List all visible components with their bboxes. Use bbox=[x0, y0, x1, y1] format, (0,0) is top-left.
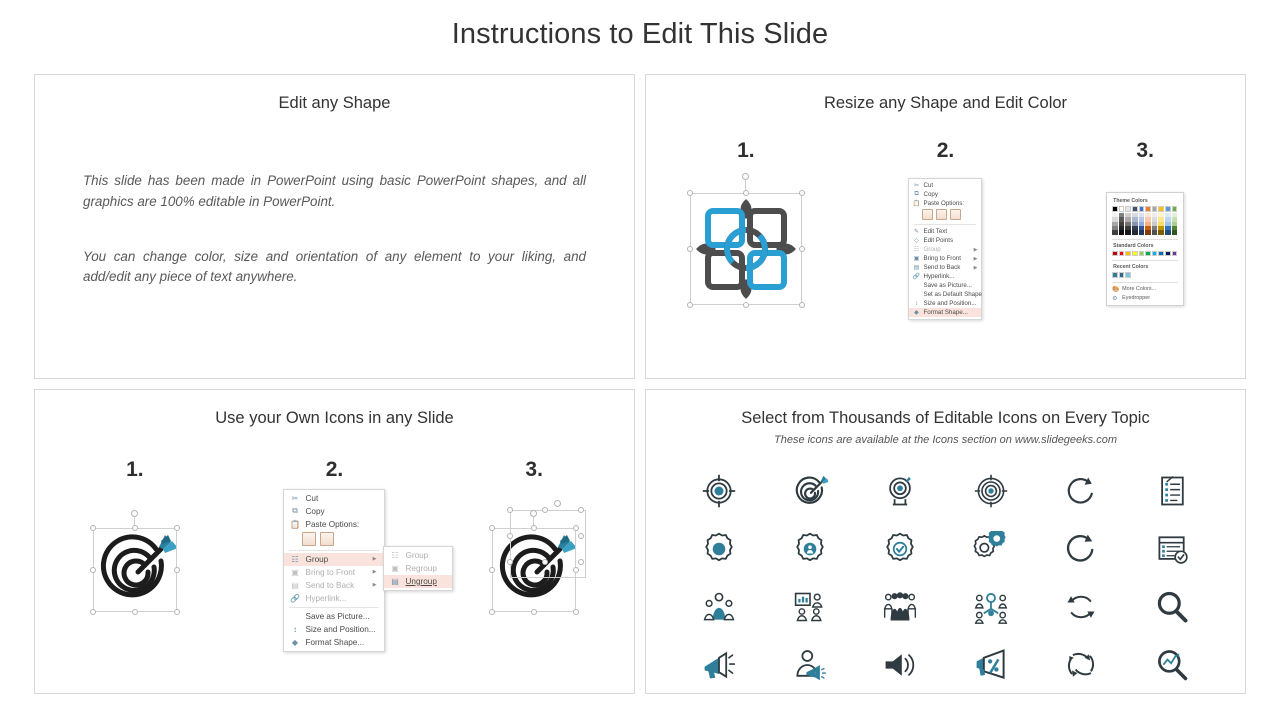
gctx-item-copy-label: Copy bbox=[300, 507, 324, 516]
icon-cell[interactable] bbox=[855, 520, 946, 578]
own-icons-step-1-art bbox=[35, 490, 235, 650]
swatch-theme[interactable] bbox=[1125, 206, 1131, 212]
swatch-recent[interactable] bbox=[1119, 272, 1125, 278]
slide-root: Instructions to Edit This Slide Edit any… bbox=[0, 0, 1280, 720]
ctx-item-bring-to-front[interactable]: ▣ Bring to Front ▶ bbox=[909, 254, 981, 263]
gctx-item-format-shape-label: Format Shape... bbox=[300, 638, 364, 647]
swatch-theme[interactable] bbox=[1152, 206, 1158, 212]
gctx-item-cut[interactable]: ✂ Cut bbox=[284, 492, 384, 505]
gctx-item-format-shape[interactable]: ◆ Format Shape... bbox=[284, 636, 384, 649]
checklist-document-icon bbox=[1154, 473, 1190, 509]
swatch-standard[interactable] bbox=[1132, 251, 1138, 257]
swatch-standard[interactable] bbox=[1119, 251, 1125, 257]
ctx-item-size-and-position-label: Size and Position... bbox=[920, 300, 976, 307]
size-position-icon: ↕ bbox=[912, 301, 920, 307]
paste-option-buttons bbox=[909, 208, 981, 222]
edit-text-icon: ✎ bbox=[912, 228, 920, 235]
swatch-theme[interactable] bbox=[1112, 206, 1118, 212]
ctx-item-edit-points-label: Edit Points bbox=[920, 237, 953, 244]
gctx-separator-1 bbox=[289, 550, 379, 551]
icon-cell[interactable] bbox=[765, 462, 856, 520]
scissors-icon: ✂ bbox=[912, 182, 920, 189]
ctx-item-bring-to-front-label: Bring to Front bbox=[920, 255, 961, 262]
resize-step-art-row: ✂ Cut ⧉ Copy 📋 Paste Options: bbox=[646, 169, 1245, 329]
ctx-item-set-default-shape[interactable]: Set as Default Shape bbox=[909, 290, 981, 299]
icon-cell[interactable] bbox=[855, 636, 946, 694]
handle-bottom-center[interactable] bbox=[743, 302, 749, 308]
bring-front-icon: ▣ bbox=[912, 255, 920, 262]
eyedropper-label: Eyedropper bbox=[1122, 295, 1150, 301]
size-position-icon: ↕ bbox=[289, 625, 300, 634]
gctx-item-copy[interactable]: ⧉ Copy bbox=[284, 505, 384, 518]
clipboard-icon: 📋 bbox=[289, 520, 300, 529]
gctx-item-hyperlink[interactable]: 🔗 Hyperlink... bbox=[284, 592, 384, 605]
swatch-theme[interactable] bbox=[1132, 206, 1138, 212]
icon-cell[interactable] bbox=[946, 578, 1037, 636]
paste-keep-formatting-icon[interactable] bbox=[302, 532, 316, 546]
ctx-item-send-to-back-label: Send to Back bbox=[920, 264, 960, 271]
gctx-item-size-and-position-label: Size and Position... bbox=[300, 625, 375, 634]
submenu-item-ungroup[interactable]: ▤ Ungroup bbox=[384, 575, 452, 588]
palette-icon: 🎨 bbox=[1112, 286, 1119, 293]
more-colors-label: More Colors... bbox=[1122, 286, 1156, 292]
theme-colors-row bbox=[1112, 206, 1178, 212]
chevron-right-icon: ▶ bbox=[974, 247, 978, 253]
more-colors-item[interactable]: 🎨 More Colors... bbox=[1112, 286, 1178, 293]
gctx-item-hyperlink-label: Hyperlink... bbox=[300, 594, 346, 603]
icon-cell[interactable] bbox=[946, 520, 1037, 578]
panel-icon-library-subtitle: These icons are available at the Icons s… bbox=[646, 434, 1245, 446]
icon-cell[interactable] bbox=[765, 520, 856, 578]
own-icons-step-2-art: ✂ Cut ⧉ Copy 📋 Paste Options: bbox=[235, 490, 435, 650]
icon-cell[interactable] bbox=[674, 462, 765, 520]
handle-top-left[interactable] bbox=[687, 190, 693, 196]
ctx-item-format-shape[interactable]: ◆ Format Shape... bbox=[909, 308, 981, 317]
selection-bounding-box bbox=[93, 528, 177, 612]
ctx-item-hyperlink-label: Hyperlink... bbox=[920, 273, 954, 280]
ungrouped-target-selection-frame[interactable] bbox=[492, 528, 576, 612]
icon-cell[interactable] bbox=[1127, 462, 1218, 520]
recent-colors-row bbox=[1112, 272, 1178, 278]
ctx-item-paste-options[interactable]: 📋 Paste Options: bbox=[909, 199, 981, 208]
chevron-right-icon: ▶ bbox=[373, 556, 377, 562]
person-megaphone-icon bbox=[792, 647, 828, 683]
panel-resize-shape-title: Resize any Shape and Edit Color bbox=[646, 94, 1245, 113]
icon-cell[interactable] bbox=[1036, 578, 1127, 636]
own-icons-step-3-number: 3. bbox=[434, 458, 634, 482]
ctx-item-copy[interactable]: ⧉ Copy bbox=[909, 190, 981, 199]
group-icon: ☷ bbox=[912, 246, 920, 253]
paste-picture-icon[interactable] bbox=[320, 532, 334, 546]
ctx-item-group[interactable]: ☷ Group ▶ bbox=[909, 245, 981, 254]
resize-step-numbers: 1. 2. 3. bbox=[646, 139, 1245, 163]
target-dart-icon bbox=[792, 473, 828, 509]
ctx-item-edit-points[interactable]: ◇ Edit Points bbox=[909, 236, 981, 245]
gctx-item-group[interactable]: ☷ Group ▶ bbox=[284, 553, 384, 566]
own-icons-step-numbers: 1. 2. 3. bbox=[35, 458, 634, 482]
theme-colors-label: Theme Colors bbox=[1113, 198, 1178, 204]
submenu-item-group[interactable]: ☷ Group bbox=[384, 549, 452, 562]
paste-option-buttons bbox=[284, 531, 384, 548]
edit-points-icon: ◇ bbox=[912, 237, 920, 244]
gctx-item-bring-to-front-label: Bring to Front bbox=[300, 568, 355, 577]
color-picker-menu[interactable]: Theme Colors bbox=[1106, 192, 1184, 306]
gctx-item-save-as-picture[interactable]: Save as Picture... bbox=[284, 610, 384, 623]
gctx-item-save-as-picture-label: Save as Picture... bbox=[300, 612, 369, 621]
edit-shape-paragraph-1: This slide has been made in PowerPoint u… bbox=[83, 171, 586, 213]
group-icon: ☷ bbox=[389, 551, 400, 560]
group-context-menu[interactable]: ✂ Cut ⧉ Copy 📋 Paste Options: bbox=[283, 489, 385, 652]
panel-icon-library: Select from Thousands of Editable Icons … bbox=[645, 389, 1246, 694]
panel-edit-shape: Edit any Shape This slide has been made … bbox=[34, 74, 635, 379]
swatch-theme[interactable] bbox=[1158, 206, 1164, 212]
eyedropper-item[interactable]: ⚙ Eyedropper bbox=[1112, 295, 1178, 302]
icon-library-grid bbox=[674, 462, 1217, 694]
handle-middle-left[interactable] bbox=[90, 567, 96, 573]
rotate-clockwise-icon bbox=[1063, 473, 1099, 509]
swatch-theme[interactable] bbox=[1145, 206, 1151, 212]
tint-column[interactable] bbox=[1152, 213, 1158, 235]
tint-column[interactable] bbox=[1165, 213, 1171, 235]
swatch-standard[interactable] bbox=[1139, 251, 1145, 257]
panel-own-icons: Use your Own Icons in any Slide 1. 2. 3. bbox=[34, 389, 635, 694]
gear-check-icon bbox=[882, 531, 918, 567]
swatch-standard[interactable] bbox=[1152, 251, 1158, 257]
panel-grid: Edit any Shape This slide has been made … bbox=[34, 74, 1246, 694]
picker-separator-1 bbox=[1112, 239, 1178, 240]
regroup-icon: ▣ bbox=[389, 564, 400, 573]
tint-column[interactable] bbox=[1139, 213, 1145, 235]
icon-cell[interactable] bbox=[674, 520, 765, 578]
resize-step-2-art: ✂ Cut ⧉ Copy 📋 Paste Options: bbox=[846, 169, 1046, 329]
icon-cell[interactable] bbox=[855, 462, 946, 520]
ctx-item-hyperlink[interactable]: 🔗 Hyperlink... bbox=[909, 272, 981, 281]
swatch-standard[interactable] bbox=[1125, 251, 1131, 257]
resize-step-3-number: 3. bbox=[1045, 139, 1245, 163]
ctx-item-size-and-position[interactable]: ↕ Size and Position... bbox=[909, 299, 981, 308]
ctx-item-save-as-picture[interactable]: Save as Picture... bbox=[909, 281, 981, 290]
icon-cell[interactable] bbox=[765, 578, 856, 636]
icon-cell[interactable] bbox=[946, 462, 1037, 520]
ctx-item-edit-text-label: Edit Text bbox=[920, 228, 947, 235]
handle-bottom-left[interactable] bbox=[90, 609, 96, 615]
icon-cell[interactable] bbox=[1127, 578, 1218, 636]
ctx-item-paste-options-label: Paste Options: bbox=[920, 200, 964, 207]
ctx-separator-1 bbox=[914, 224, 976, 225]
handle-bottom-right[interactable] bbox=[799, 302, 805, 308]
ctx-item-cut[interactable]: ✂ Cut bbox=[909, 181, 981, 190]
icon-cell[interactable] bbox=[1036, 636, 1127, 694]
target-stand-icon bbox=[882, 473, 918, 509]
gctx-item-send-to-back-label: Send to Back bbox=[300, 581, 354, 590]
rotate-handle[interactable] bbox=[131, 510, 138, 517]
tint-column[interactable] bbox=[1132, 213, 1138, 235]
circular-arrows-icon bbox=[1063, 647, 1099, 683]
eyedropper-icon: ⚙ bbox=[1112, 295, 1119, 302]
swatch-theme[interactable] bbox=[1119, 206, 1125, 212]
gctx-item-cut-label: Cut bbox=[300, 494, 318, 503]
gctx-item-paste-options[interactable]: 📋 Paste Options: bbox=[284, 518, 384, 531]
paste-keep-text-icon[interactable] bbox=[950, 209, 961, 220]
swatch-standard[interactable] bbox=[1112, 251, 1118, 257]
icon-cell[interactable] bbox=[674, 578, 765, 636]
ctx-item-group-label: Group bbox=[920, 246, 940, 253]
megaphone-icon bbox=[701, 647, 737, 683]
standard-colors-row bbox=[1112, 251, 1178, 257]
handle-bottom-right[interactable] bbox=[174, 609, 180, 615]
group-people-icon bbox=[882, 589, 918, 625]
chevron-right-icon: ▶ bbox=[974, 265, 978, 271]
ctx-item-cut-label: Cut bbox=[920, 182, 933, 189]
handle-middle-right[interactable] bbox=[174, 567, 180, 573]
bring-front-icon: ▣ bbox=[289, 568, 300, 577]
paste-picture-icon[interactable] bbox=[936, 209, 947, 220]
icon-cell[interactable] bbox=[855, 578, 946, 636]
copy-icon: ⧉ bbox=[289, 506, 300, 516]
gctx-item-size-and-position[interactable]: ↕ Size and Position... bbox=[284, 623, 384, 636]
rotate-handle-part[interactable] bbox=[554, 500, 561, 507]
panel-edit-shape-title: Edit any Shape bbox=[35, 94, 634, 113]
resize-step-1-art bbox=[646, 169, 846, 329]
icon-cell[interactable] bbox=[1127, 636, 1218, 694]
ctx-item-save-as-picture-label: Save as Picture... bbox=[920, 282, 972, 289]
format-shape-icon: ◆ bbox=[289, 638, 300, 647]
handle-top-left[interactable] bbox=[90, 525, 96, 531]
refresh-circle-icon bbox=[1063, 531, 1099, 567]
chevron-right-icon: ▶ bbox=[373, 582, 377, 588]
gctx-item-group-label: Group bbox=[300, 555, 328, 564]
handle-top-center[interactable] bbox=[743, 190, 749, 196]
send-back-icon: ▤ bbox=[912, 264, 920, 271]
chevron-right-icon: ▶ bbox=[974, 256, 978, 262]
swatch-theme[interactable] bbox=[1139, 206, 1145, 212]
gctx-item-send-to-back[interactable]: ▤ Send to Back ▶ bbox=[284, 579, 384, 592]
tint-column[interactable] bbox=[1112, 213, 1118, 235]
crosshair-target-icon bbox=[701, 473, 737, 509]
swatch-recent[interactable] bbox=[1125, 272, 1131, 278]
handle-top-right[interactable] bbox=[174, 525, 180, 531]
icon-cell[interactable] bbox=[1036, 462, 1127, 520]
format-shape-icon: ◆ bbox=[912, 309, 920, 316]
link-icon: 🔗 bbox=[912, 273, 920, 280]
handle-top-center[interactable] bbox=[132, 525, 138, 531]
gctx-separator-2 bbox=[289, 607, 379, 608]
handle-middle-left[interactable] bbox=[687, 246, 693, 252]
copy-icon: ⧉ bbox=[912, 191, 920, 198]
own-icons-step-3-art bbox=[434, 490, 634, 650]
sync-arrows-icon bbox=[1063, 589, 1099, 625]
edit-shape-paragraph-2: You can change color, size and orientati… bbox=[83, 247, 586, 289]
gears-pair-icon bbox=[973, 531, 1009, 567]
standard-colors-label: Standard Colors bbox=[1113, 243, 1178, 249]
swatch-recent[interactable] bbox=[1112, 272, 1118, 278]
handle-bottom-center[interactable] bbox=[132, 609, 138, 615]
link-icon: 🔗 bbox=[289, 594, 300, 603]
picker-separator-3 bbox=[1112, 282, 1178, 283]
ctx-item-edit-text[interactable]: ✎ Edit Text bbox=[909, 227, 981, 236]
group-icon: ☷ bbox=[289, 555, 300, 564]
handle-top-right[interactable] bbox=[799, 190, 805, 196]
panel-resize-shape: Resize any Shape and Edit Color 1. 2. 3. bbox=[645, 74, 1246, 379]
tint-column[interactable] bbox=[1145, 213, 1151, 235]
target-selection-frame[interactable] bbox=[93, 528, 177, 612]
document-approved-icon bbox=[1154, 531, 1190, 567]
tint-column[interactable] bbox=[1125, 213, 1131, 235]
ctx-item-send-to-back[interactable]: ▤ Send to Back ▶ bbox=[909, 263, 981, 272]
shape-context-menu[interactable]: ✂ Cut ⧉ Copy 📋 Paste Options: bbox=[908, 178, 982, 320]
team-leader-icon bbox=[701, 589, 737, 625]
resize-step-1-number: 1. bbox=[646, 139, 846, 163]
swatch-standard[interactable] bbox=[1145, 251, 1151, 257]
rotate-handle[interactable] bbox=[742, 173, 749, 180]
icon-cell[interactable] bbox=[946, 636, 1037, 694]
panel-own-icons-title: Use your Own Icons in any Slide bbox=[35, 409, 634, 428]
swatch-standard[interactable] bbox=[1172, 251, 1178, 257]
recent-colors-label: Recent Colors bbox=[1113, 264, 1178, 270]
icon-cell[interactable] bbox=[765, 636, 856, 694]
picker-separator-2 bbox=[1112, 260, 1178, 261]
chevron-right-icon: ▶ bbox=[373, 569, 377, 575]
page-title: Instructions to Edit This Slide bbox=[0, 0, 1280, 51]
handle-middle-right[interactable] bbox=[799, 246, 805, 252]
panel-icon-library-title: Select from Thousands of Editable Icons … bbox=[646, 409, 1245, 428]
tint-column[interactable] bbox=[1172, 213, 1178, 235]
clipboard-icon: 📋 bbox=[912, 200, 920, 207]
handle-bottom-left[interactable] bbox=[687, 302, 693, 308]
swatch-standard[interactable] bbox=[1158, 251, 1164, 257]
own-icons-step-2-number: 2. bbox=[235, 458, 435, 482]
speaker-sound-icon bbox=[882, 647, 918, 683]
ctx-item-set-default-shape-label: Set as Default Shape bbox=[920, 291, 981, 298]
theme-tints-grid bbox=[1112, 213, 1178, 235]
swatch-theme[interactable] bbox=[1172, 206, 1178, 212]
team-network-icon bbox=[973, 589, 1009, 625]
icon-cell[interactable] bbox=[1127, 520, 1218, 578]
shape-selection-frame[interactable] bbox=[690, 193, 802, 305]
own-icons-step-1-number: 1. bbox=[35, 458, 235, 482]
ctx-item-copy-label: Copy bbox=[920, 191, 937, 198]
submenu-item-group-label: Group bbox=[400, 551, 428, 560]
gear-solid-icon bbox=[701, 531, 737, 567]
swatch-theme[interactable] bbox=[1165, 206, 1171, 212]
submenu-item-regroup[interactable]: ▣ Regroup bbox=[384, 562, 452, 575]
submenu-item-ungroup-label: Ungroup bbox=[400, 577, 436, 586]
magnifier-icon bbox=[1154, 589, 1190, 625]
gctx-item-bring-to-front[interactable]: ▣ Bring to Front ▶ bbox=[284, 566, 384, 579]
resize-step-2-number: 2. bbox=[846, 139, 1046, 163]
tint-column[interactable] bbox=[1119, 213, 1125, 235]
paste-keep-formatting-icon[interactable] bbox=[922, 209, 933, 220]
send-back-icon: ▤ bbox=[289, 581, 300, 590]
presentation-team-icon bbox=[792, 589, 828, 625]
tint-column[interactable] bbox=[1158, 213, 1164, 235]
megaphone-percent-icon bbox=[973, 647, 1009, 683]
ctx-item-format-shape-label: Format Shape... bbox=[920, 309, 967, 316]
group-submenu[interactable]: ☷ Group ▣ Regroup ▤ Ungroup bbox=[383, 546, 453, 591]
submenu-item-regroup-label: Regroup bbox=[400, 564, 436, 573]
target-scope-icon bbox=[973, 473, 1009, 509]
selection-bounding-box bbox=[690, 193, 802, 305]
scissors-icon: ✂ bbox=[289, 494, 300, 503]
ungroup-icon: ▤ bbox=[389, 577, 400, 586]
icon-cell[interactable] bbox=[674, 636, 765, 694]
gctx-item-paste-options-label: Paste Options: bbox=[300, 520, 359, 529]
magnifier-target-icon bbox=[1154, 647, 1190, 683]
gear-user-icon bbox=[792, 531, 828, 567]
icon-cell[interactable] bbox=[1036, 520, 1127, 578]
resize-step-3-art: Theme Colors bbox=[1045, 169, 1245, 329]
swatch-standard[interactable] bbox=[1165, 251, 1171, 257]
own-icons-step-art-row: ✂ Cut ⧉ Copy 📋 Paste Options: bbox=[35, 490, 634, 650]
